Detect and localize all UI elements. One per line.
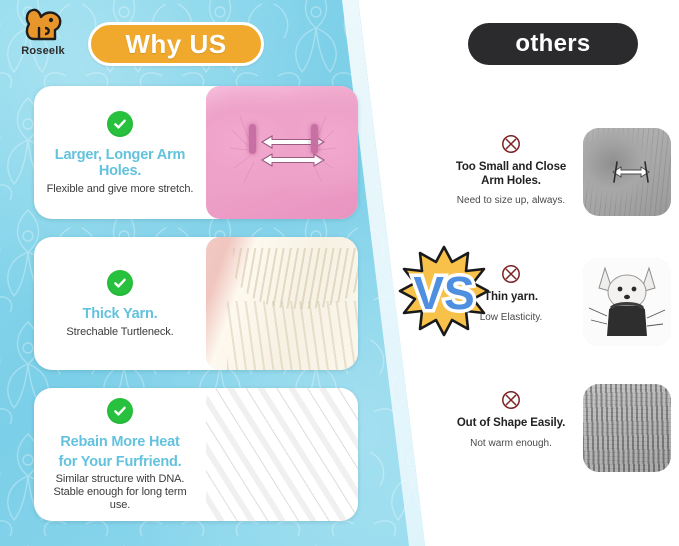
pro-card-text: Thick Yarn. Strechable Turtleneck. (34, 237, 206, 370)
gray-stretched-knit-photo (583, 384, 671, 472)
pro-card-thick-yarn: Thick Yarn. Strechable Turtleneck. (34, 237, 358, 370)
red-cross-circle-icon (501, 264, 521, 284)
con-row-text: Too Small and Close Arm Holes. Need to s… (446, 128, 576, 238)
con-row-thin-yarn: Thin yarn. Low Elasticity. (446, 258, 671, 368)
con-row-text: Thin yarn. Low Elasticity. (446, 258, 576, 368)
green-check-icon (107, 270, 133, 296)
others-label: others (515, 30, 590, 58)
red-cross-circle-icon (501, 134, 521, 154)
con-row-title: Too Small and Close Arm Holes. (456, 161, 566, 188)
con-row-title: Thin yarn. (484, 291, 538, 305)
pro-card-arm-holes: Larger, Longer Arm Holes. Flexible and g… (34, 86, 358, 219)
pro-card-subtitle-line2: Stable enough for long term use. (42, 486, 198, 512)
brand-name: Roseelk (10, 45, 76, 57)
con-row-title-line2: Arm Holes. (481, 175, 541, 187)
pink-sweater-arm-holes-photo (206, 86, 358, 219)
infographic-canvas: Roseelk Why US others Larger, Longer Arm… (0, 0, 679, 546)
pro-card-title: Thick Yarn. (83, 306, 158, 322)
pro-card-subtitle: Flexible and give more stretch. (47, 183, 194, 196)
white-twisted-yarn-fibers-photo (206, 388, 358, 521)
green-check-icon (107, 111, 133, 137)
con-row-subtitle: Need to size up, always. (457, 195, 565, 207)
rabbit-head-logo-icon (21, 6, 65, 44)
pro-card-subtitle-line1: Similar structure with DNA. (56, 473, 185, 486)
pro-card-subtitle: Strechable Turtleneck. (66, 326, 173, 339)
con-row-arm-holes: Too Small and Close Arm Holes. Need to s… (446, 128, 671, 238)
gray-chihuahua-in-sweater-photo (583, 258, 671, 346)
con-row-title-line1: Too Small and Close (456, 161, 566, 173)
others-header-pill: others (468, 23, 638, 65)
chihuahua-illustration-icon (583, 258, 671, 346)
cream-knit-turtleneck-photo (206, 237, 358, 370)
pro-card-text: Rebain More Heat for Your Furfriend. Sim… (34, 388, 206, 521)
pro-card-text: Larger, Longer Arm Holes. Flexible and g… (34, 86, 206, 219)
red-cross-circle-icon (501, 390, 521, 410)
con-row-title: Out of Shape Easily. (457, 417, 565, 431)
con-row-out-of-shape: Out of Shape Easily. Not warm enough. (446, 384, 671, 494)
pro-card-title-line2: for Your Furfriend. (59, 454, 182, 470)
why-us-header-pill: Why US (88, 22, 264, 66)
why-us-label: Why US (125, 29, 226, 60)
pro-card-title-line1: Rebain More Heat (60, 434, 179, 450)
con-row-subtitle: Not warm enough. (470, 438, 552, 450)
gray-small-arm-holes-photo (583, 128, 671, 216)
con-row-subtitle: Low Elasticity. (480, 312, 543, 324)
brand-logo: Roseelk (10, 6, 76, 62)
con-row-text: Out of Shape Easily. Not warm enough. (446, 384, 576, 494)
pro-card-title: Larger, Longer Arm Holes. (42, 147, 198, 179)
narrow-gap-arrow-icon (583, 128, 671, 216)
stretch-arrows-icon (206, 86, 358, 219)
pro-card-retain-heat: Rebain More Heat for Your Furfriend. Sim… (34, 388, 358, 521)
green-check-icon (107, 398, 133, 424)
